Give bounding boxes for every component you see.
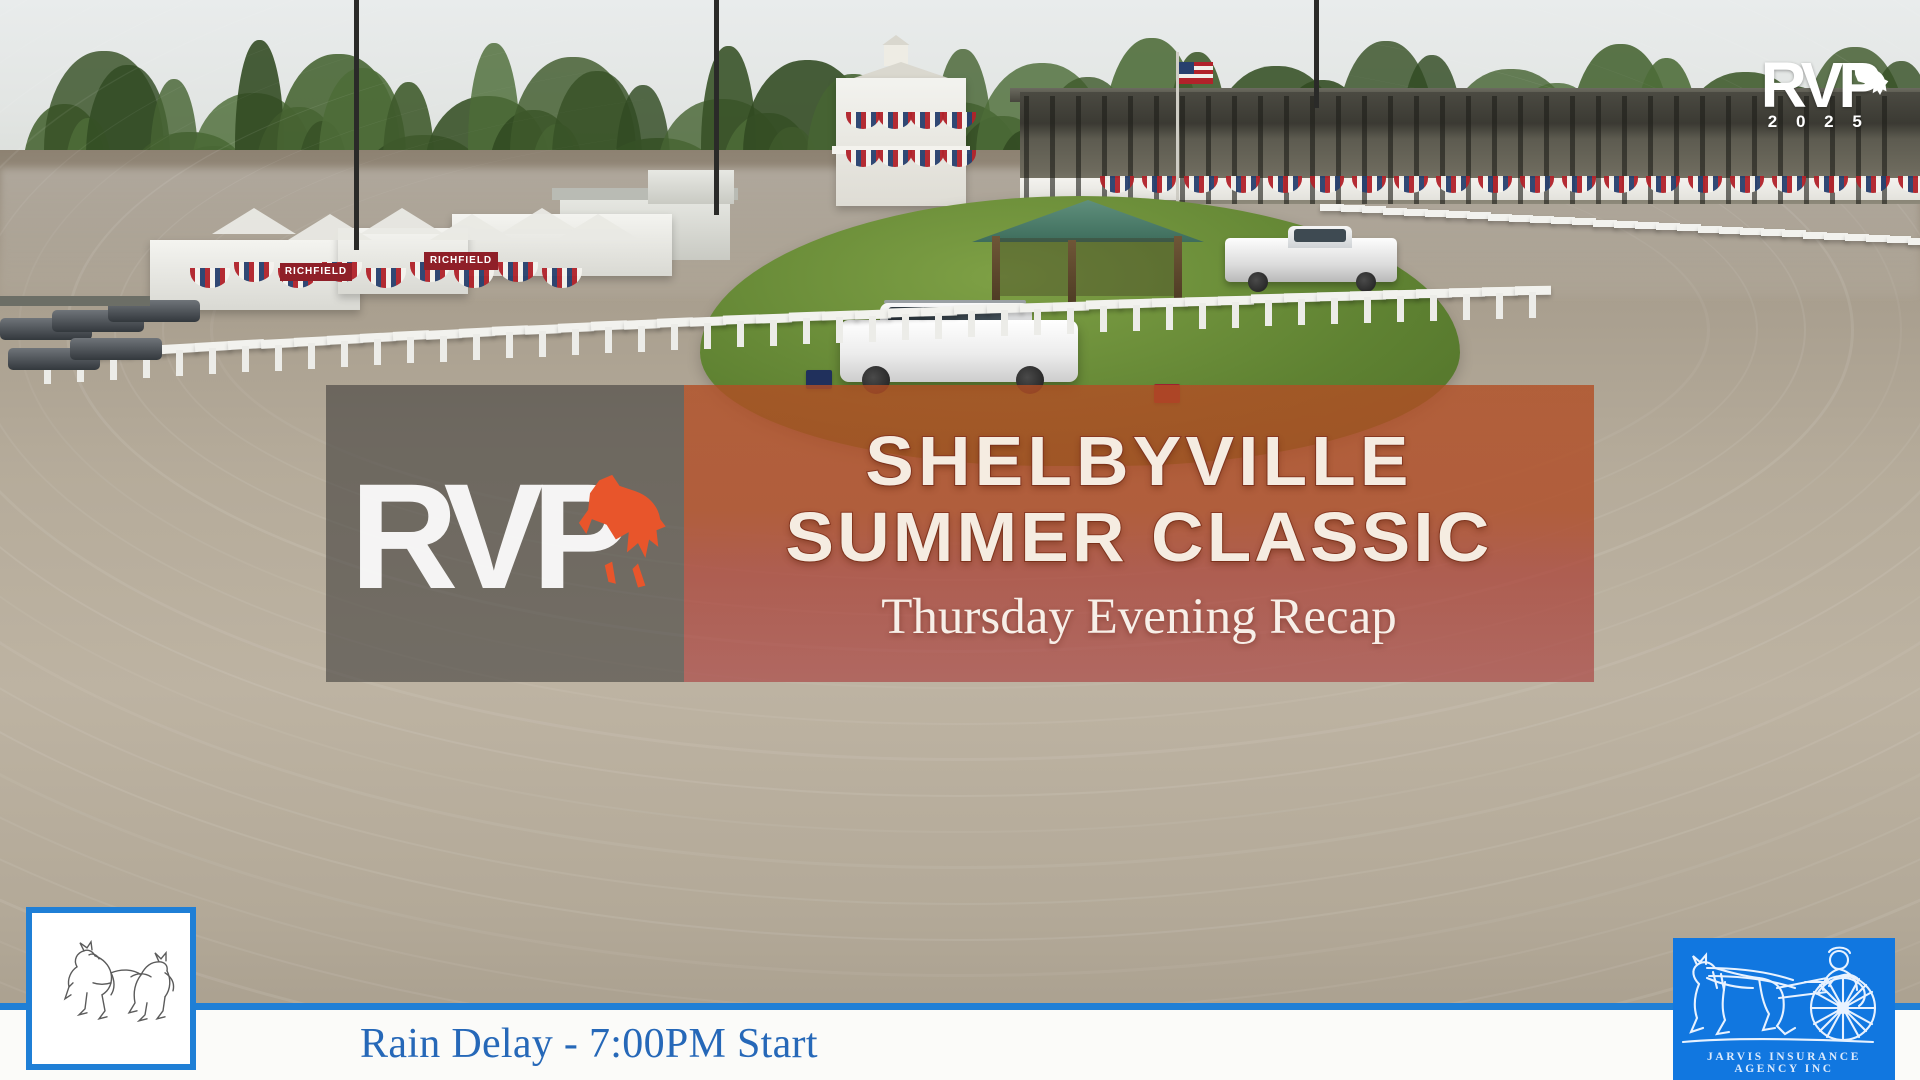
event-title-panel: SHELBYVILLE SUMMER CLASSIC Thursday Even… xyxy=(684,385,1594,682)
light-pole xyxy=(714,0,719,215)
event-title: SHELBYVILLE SUMMER CLASSIC xyxy=(785,423,1492,575)
rearing-horse-icon xyxy=(558,473,670,593)
gazebo-post xyxy=(992,236,1000,302)
rvp-watermark: RVP 2 0 2 5 xyxy=(1761,52,1876,132)
light-pole xyxy=(1314,0,1319,108)
vendor-banner: RICHFIELD xyxy=(424,252,498,270)
horse-silhouette-icon xyxy=(1846,60,1892,108)
two-horses-sketch-icon xyxy=(47,932,175,1036)
light-pole xyxy=(354,0,359,250)
us-flag xyxy=(1179,62,1213,84)
sponsor-logo-left[interactable] xyxy=(26,907,196,1070)
rvp-logo-panel: RVP xyxy=(326,385,684,682)
vendor-banner: RICHFIELD xyxy=(280,263,352,281)
event-subtitle: Thursday Evening Recap xyxy=(881,589,1397,645)
gazebo-interior xyxy=(998,238,1180,296)
truck-tire xyxy=(1248,272,1268,292)
broadcast-frame: RICHFIELD RICHFIELD RVP 2 0 2 5 RVP SHEL… xyxy=(0,0,1920,1080)
horse-and-sulky-icon xyxy=(1677,938,1891,1056)
lower-third-banner: RVP SHELBYVILLE SUMMER CLASSIC Thursday … xyxy=(326,385,1594,682)
event-title-line-1: SHELBYVILLE xyxy=(785,423,1492,499)
gazebo-post xyxy=(1068,240,1076,306)
gazebo-post xyxy=(1174,236,1182,302)
truck-tire xyxy=(1356,272,1376,292)
tower-cupola xyxy=(884,44,908,66)
ticker-message: Rain Delay - 7:00PM Start xyxy=(360,1013,1560,1075)
truck-window xyxy=(1294,229,1346,242)
sponsor-logo-right[interactable]: JARVIS INSURANCE AGENCY INC xyxy=(1673,938,1895,1080)
event-title-line-2: SUMMER CLASSIC xyxy=(785,499,1492,575)
sponsor-name-right: JARVIS INSURANCE AGENCY INC xyxy=(1673,1051,1895,1075)
judges-stand xyxy=(836,78,966,206)
